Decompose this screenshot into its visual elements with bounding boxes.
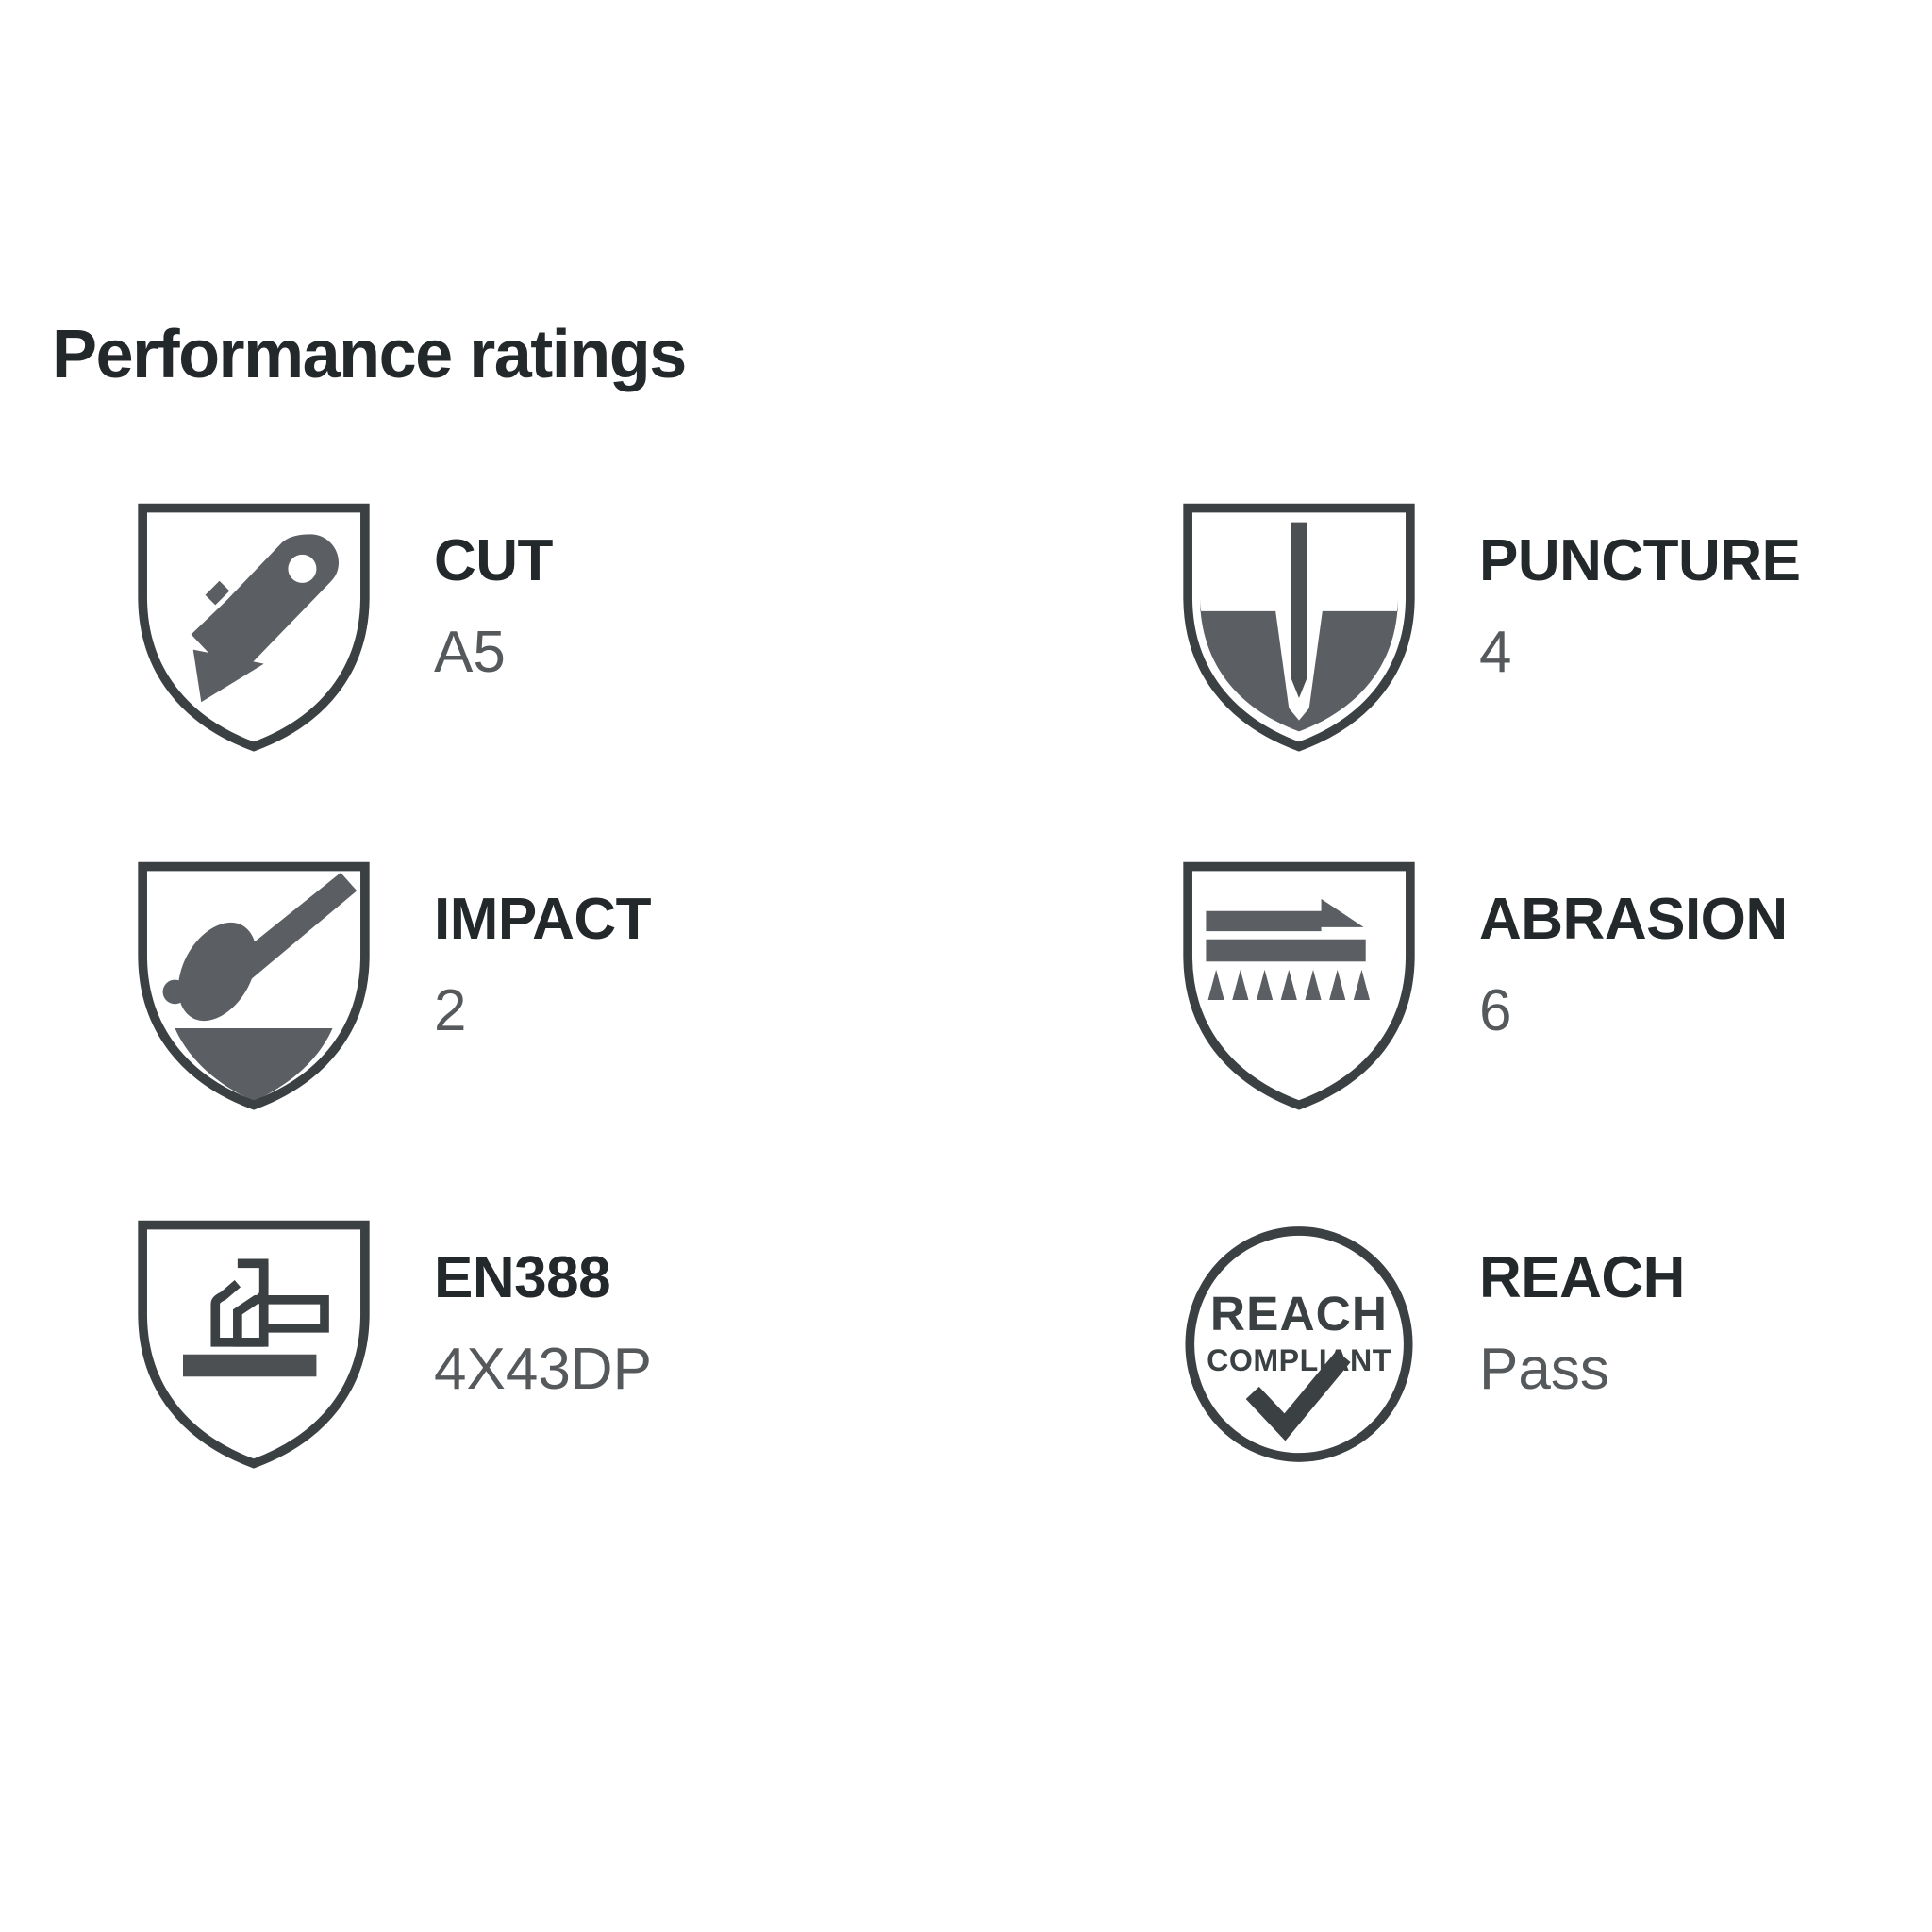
- rating-value: 2: [434, 980, 651, 1041]
- rating-text-abrasion: ABRASION 6: [1421, 858, 1788, 1041]
- rating-text-puncture: PUNCTURE 4: [1421, 500, 1800, 683]
- rating-value: Pass: [1479, 1339, 1685, 1400]
- rating-text-impact: IMPACT 2: [375, 858, 651, 1041]
- reach-badge-line1: REACH: [1210, 1286, 1388, 1341]
- shield-puncture-icon: [1177, 500, 1421, 755]
- ratings-grid: CUT A5 PUNCTURE 4: [0, 500, 1932, 1575]
- rating-value: 4: [1479, 622, 1800, 683]
- shield-en388-icon: [132, 1217, 375, 1472]
- rating-item-reach: REACH COMPLIANT REACH Pass: [1075, 1217, 1840, 1575]
- rating-label: IMPACT: [434, 889, 651, 950]
- rating-item-puncture: PUNCTURE 4: [1075, 500, 1840, 858]
- shield-abrasion-icon: [1177, 858, 1421, 1113]
- rating-text-cut: CUT A5: [375, 500, 553, 683]
- rating-text-en388: EN388 4X43DP: [375, 1217, 652, 1400]
- reach-badge-line2: COMPLIANT: [1207, 1343, 1391, 1377]
- rating-label: CUT: [434, 530, 553, 591]
- rating-item-impact: IMPACT 2: [0, 858, 1075, 1217]
- rating-label: ABRASION: [1479, 889, 1788, 950]
- rating-label: REACH: [1479, 1247, 1685, 1308]
- rating-value: A5: [434, 622, 553, 683]
- rating-item-cut: CUT A5: [0, 500, 1075, 858]
- shield-cut-icon: [132, 500, 375, 755]
- rating-value: 6: [1479, 980, 1788, 1041]
- performance-ratings-panel: Performance ratings: [0, 0, 1932, 1932]
- rating-item-abrasion: ABRASION 6: [1075, 858, 1840, 1217]
- rating-value: 4X43DP: [434, 1339, 652, 1400]
- page-title: Performance ratings: [52, 321, 686, 389]
- reach-compliant-icon: REACH COMPLIANT: [1177, 1217, 1421, 1472]
- rating-label: EN388: [434, 1247, 652, 1308]
- rating-label: PUNCTURE: [1479, 530, 1800, 591]
- rating-text-reach: REACH Pass: [1421, 1217, 1685, 1400]
- shield-impact-icon: [132, 858, 375, 1113]
- rating-item-en388: EN388 4X43DP: [0, 1217, 1075, 1575]
